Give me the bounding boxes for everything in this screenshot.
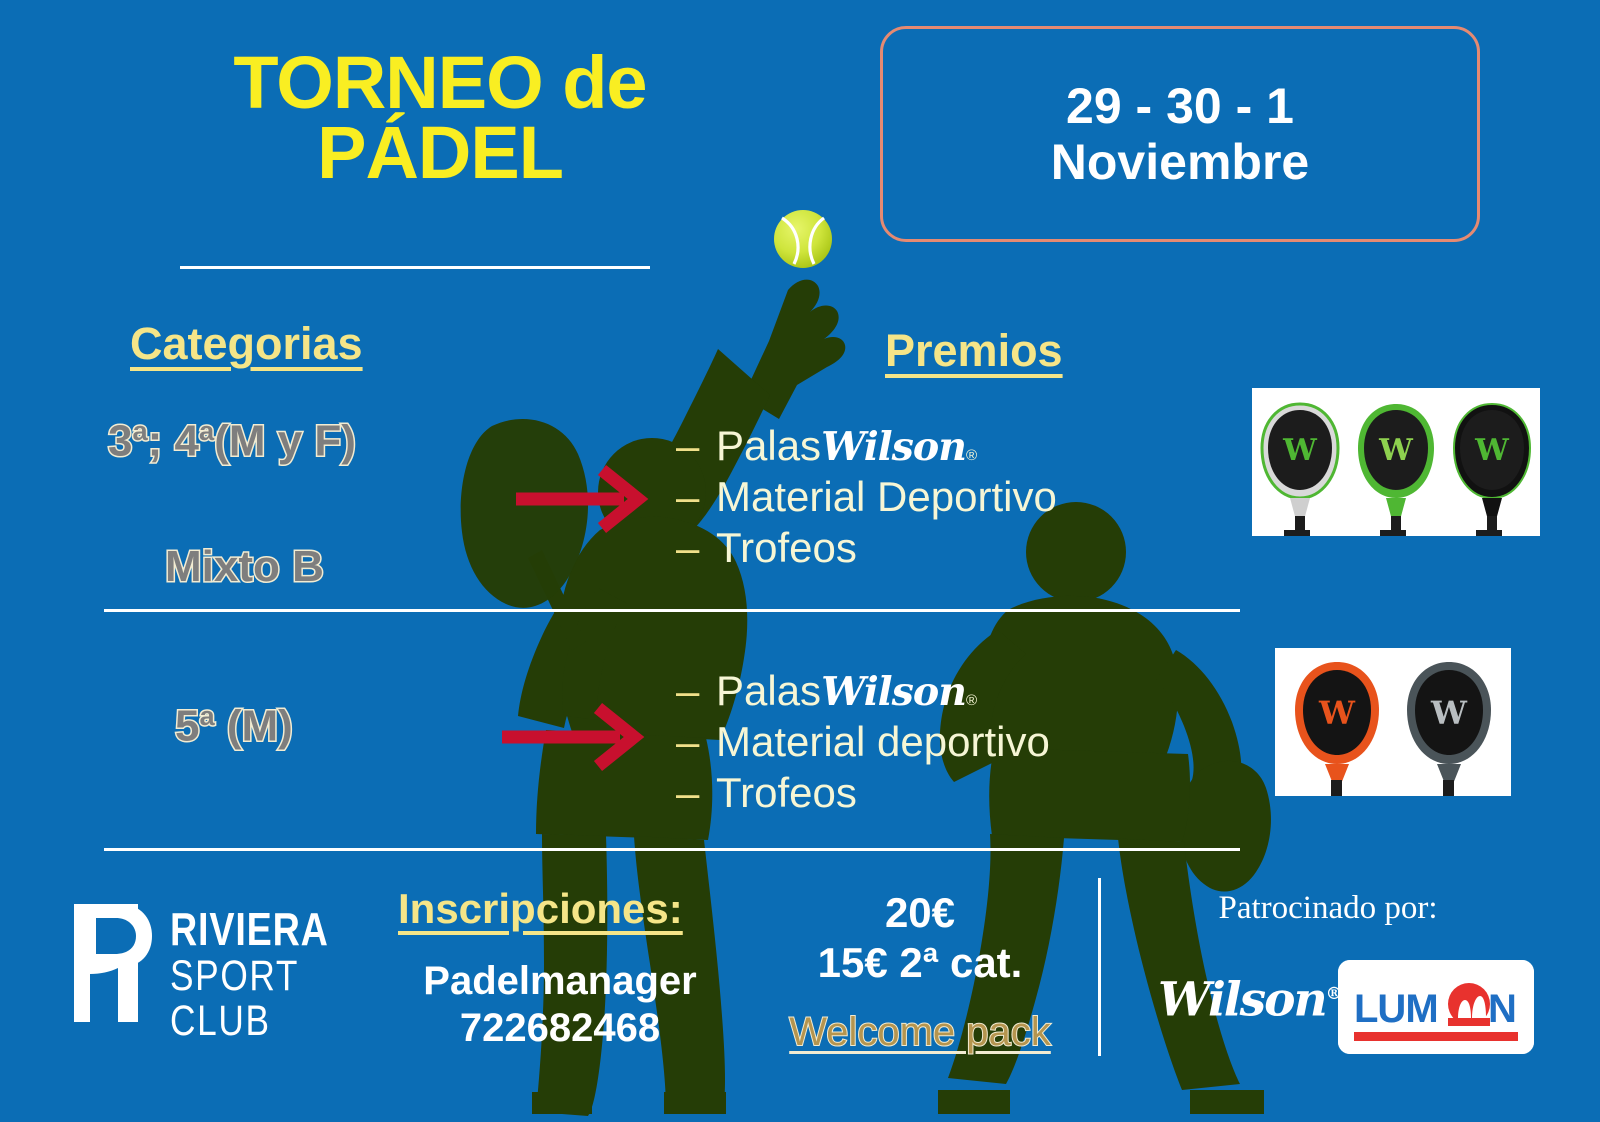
inscriptions-phone: 722682468: [400, 1005, 720, 1052]
category-item-1: 3a; 4a(M y F): [108, 415, 356, 467]
prize-list-group-2: – Palas Wilson ® – Material deportivo – …: [676, 665, 1050, 819]
wilson-logo-text: Wilson: [1158, 973, 1326, 1028]
inscriptions-heading: Inscripciones:: [398, 885, 683, 933]
three-green-rackets-graphic: W W W: [1252, 388, 1540, 536]
riviera-r-monogram-icon: [70, 902, 156, 1024]
arrow-right-icon: [502, 700, 662, 774]
lumon-logo-graphic: LUM N: [1338, 960, 1534, 1054]
tennis-ball-icon: [772, 208, 834, 270]
prize-text: Trofeos: [716, 522, 857, 573]
lumon-text-right: N: [1488, 987, 1517, 1031]
bullet-dash: –: [676, 767, 716, 818]
lumon-sponsor-logo: LUM N: [1338, 960, 1534, 1054]
bullet-dash: –: [676, 665, 716, 716]
racket-image-panel-orange-grey: W W: [1275, 648, 1511, 796]
riviera-logo-line-2: SPORT CLUB: [170, 954, 359, 1044]
prize-text: Palas: [716, 420, 821, 471]
svg-text:W: W: [1430, 694, 1468, 732]
pricing-block: 20€ 15€ 2ª cat.: [760, 888, 1080, 989]
categories-heading: Categorias: [130, 318, 363, 370]
welcome-pack-label: Welcome pack: [760, 1010, 1080, 1055]
wilson-sponsor-logo: Wilson®: [1158, 960, 1348, 1026]
category-item-2: Mixto B: [165, 542, 324, 592]
wilson-brand-text: Wilson: [821, 668, 966, 716]
category-3-tail: (M): [215, 702, 293, 751]
title-divider: [180, 266, 650, 269]
poster-canvas: TORNEO de PÁDEL 29 - 30 - 1 Noviembre Ca…: [0, 0, 1600, 1122]
price-second-category: 15€ 2ª cat.: [760, 938, 1080, 988]
svg-text:W: W: [1378, 433, 1414, 468]
inscriptions-details: Padelmanager 722682468: [400, 958, 720, 1052]
arrow-right-icon: [516, 462, 666, 536]
date-box: 29 - 30 - 1 Noviembre: [880, 26, 1480, 242]
category-1-sup1: a: [132, 415, 147, 446]
category-3-num: 5: [175, 702, 199, 751]
section-divider-2: [104, 848, 1240, 851]
svg-text:W: W: [1474, 433, 1510, 468]
category-3-sup1: a: [199, 700, 214, 731]
prize-row: – Material Deportivo: [676, 471, 1057, 522]
inscriptions-platform: Padelmanager: [400, 958, 720, 1005]
date-days: 29 - 30 - 1: [1066, 78, 1294, 134]
poster-title: TORNEO de PÁDEL: [120, 48, 760, 189]
category-1-sup2: a: [199, 415, 214, 446]
lumon-text-left: LUM: [1354, 987, 1438, 1031]
svg-text:W: W: [1282, 433, 1318, 468]
sponsors-heading: Patrocinado por:: [1128, 890, 1528, 927]
bullet-dash: –: [676, 471, 716, 522]
bullet-dash: –: [676, 522, 716, 573]
bullet-dash: –: [676, 716, 716, 767]
two-rackets-graphic: W W: [1275, 648, 1511, 796]
category-item-3: 5a (M): [175, 700, 293, 752]
racket-image-panel-green: W W W: [1252, 388, 1540, 536]
sponsor-divider: [1098, 878, 1101, 1056]
category-1-tail: (M y F): [214, 417, 356, 466]
prize-row: – Trofeos: [676, 522, 1057, 573]
prize-text: Palas: [716, 665, 821, 716]
riviera-logo-line-1: RIVIERA: [170, 906, 359, 952]
prize-row: – Material deportivo: [676, 716, 1050, 767]
prize-row: – Palas Wilson ®: [676, 665, 1050, 716]
prize-text: Material deportivo: [716, 716, 1050, 767]
prize-text: Trofeos: [716, 767, 857, 818]
date-month: Noviembre: [1051, 134, 1309, 190]
prize-text: Material Deportivo: [716, 471, 1057, 522]
section-divider-1: [104, 609, 1240, 612]
bullet-dash: –: [676, 420, 716, 471]
prize-row: – Trofeos: [676, 767, 1050, 818]
prize-row: – Palas Wilson ®: [676, 420, 1057, 471]
title-line-2: PÁDEL: [120, 118, 760, 188]
wilson-brand-text: Wilson: [821, 423, 966, 471]
prizes-heading: Premios: [885, 325, 1063, 377]
registered-mark: ®: [966, 692, 977, 710]
category-1-mid: ; 4: [148, 417, 199, 466]
svg-text:W: W: [1318, 694, 1356, 732]
registered-mark: ®: [966, 447, 977, 465]
price-main: 20€: [760, 888, 1080, 938]
riviera-sport-club-logo: RIVIERA SPORT CLUB: [70, 898, 400, 1028]
prize-list-group-1: – Palas Wilson ® – Material Deportivo – …: [676, 420, 1057, 574]
category-1-num: 3: [108, 417, 132, 466]
riviera-logo-text: RIVIERA SPORT CLUB: [170, 906, 400, 1044]
